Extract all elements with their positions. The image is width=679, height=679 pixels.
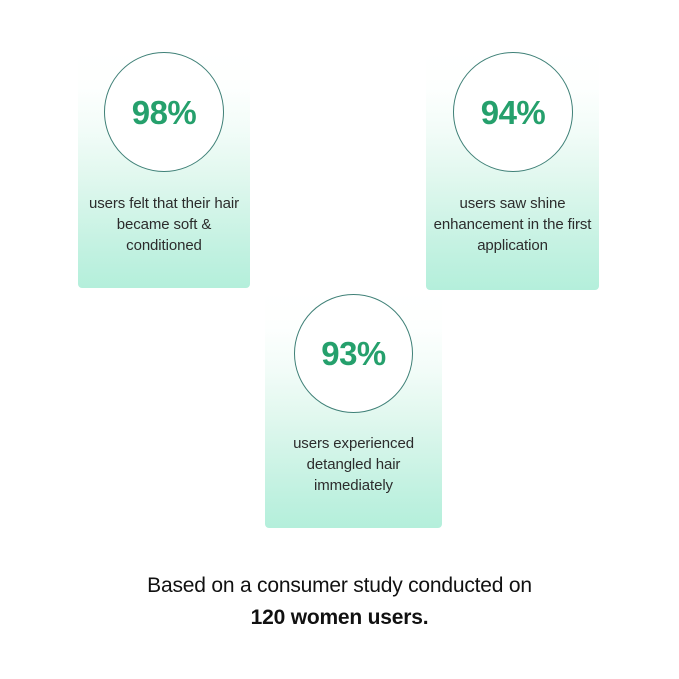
footnote-line-1: Based on a consumer study conducted on [0, 570, 679, 602]
stat-card-93: 93% users experienced detangled hair imm… [265, 290, 442, 528]
footnote-line-2: 120 women users. [0, 602, 679, 634]
stats-infographic: 98% users felt that their hair became so… [0, 0, 679, 679]
stat-description: users experienced detangled hair immedia… [271, 433, 436, 496]
percent-circle-98: 98% [104, 52, 224, 172]
percent-circle-94: 94% [453, 52, 573, 172]
stat-card-94: 94% users saw shine enhancement in the f… [426, 50, 599, 290]
stat-description: users saw shine enhancement in the first… [432, 193, 593, 256]
percent-value: 93% [321, 337, 386, 370]
stat-card-98: 98% users felt that their hair became so… [78, 50, 250, 288]
percent-value: 98% [132, 96, 197, 129]
stat-description: users felt that their hair became soft &… [84, 193, 244, 256]
percent-circle-93: 93% [294, 294, 413, 413]
study-footnote: Based on a consumer study conducted on 1… [0, 570, 679, 634]
percent-value: 94% [481, 96, 546, 129]
